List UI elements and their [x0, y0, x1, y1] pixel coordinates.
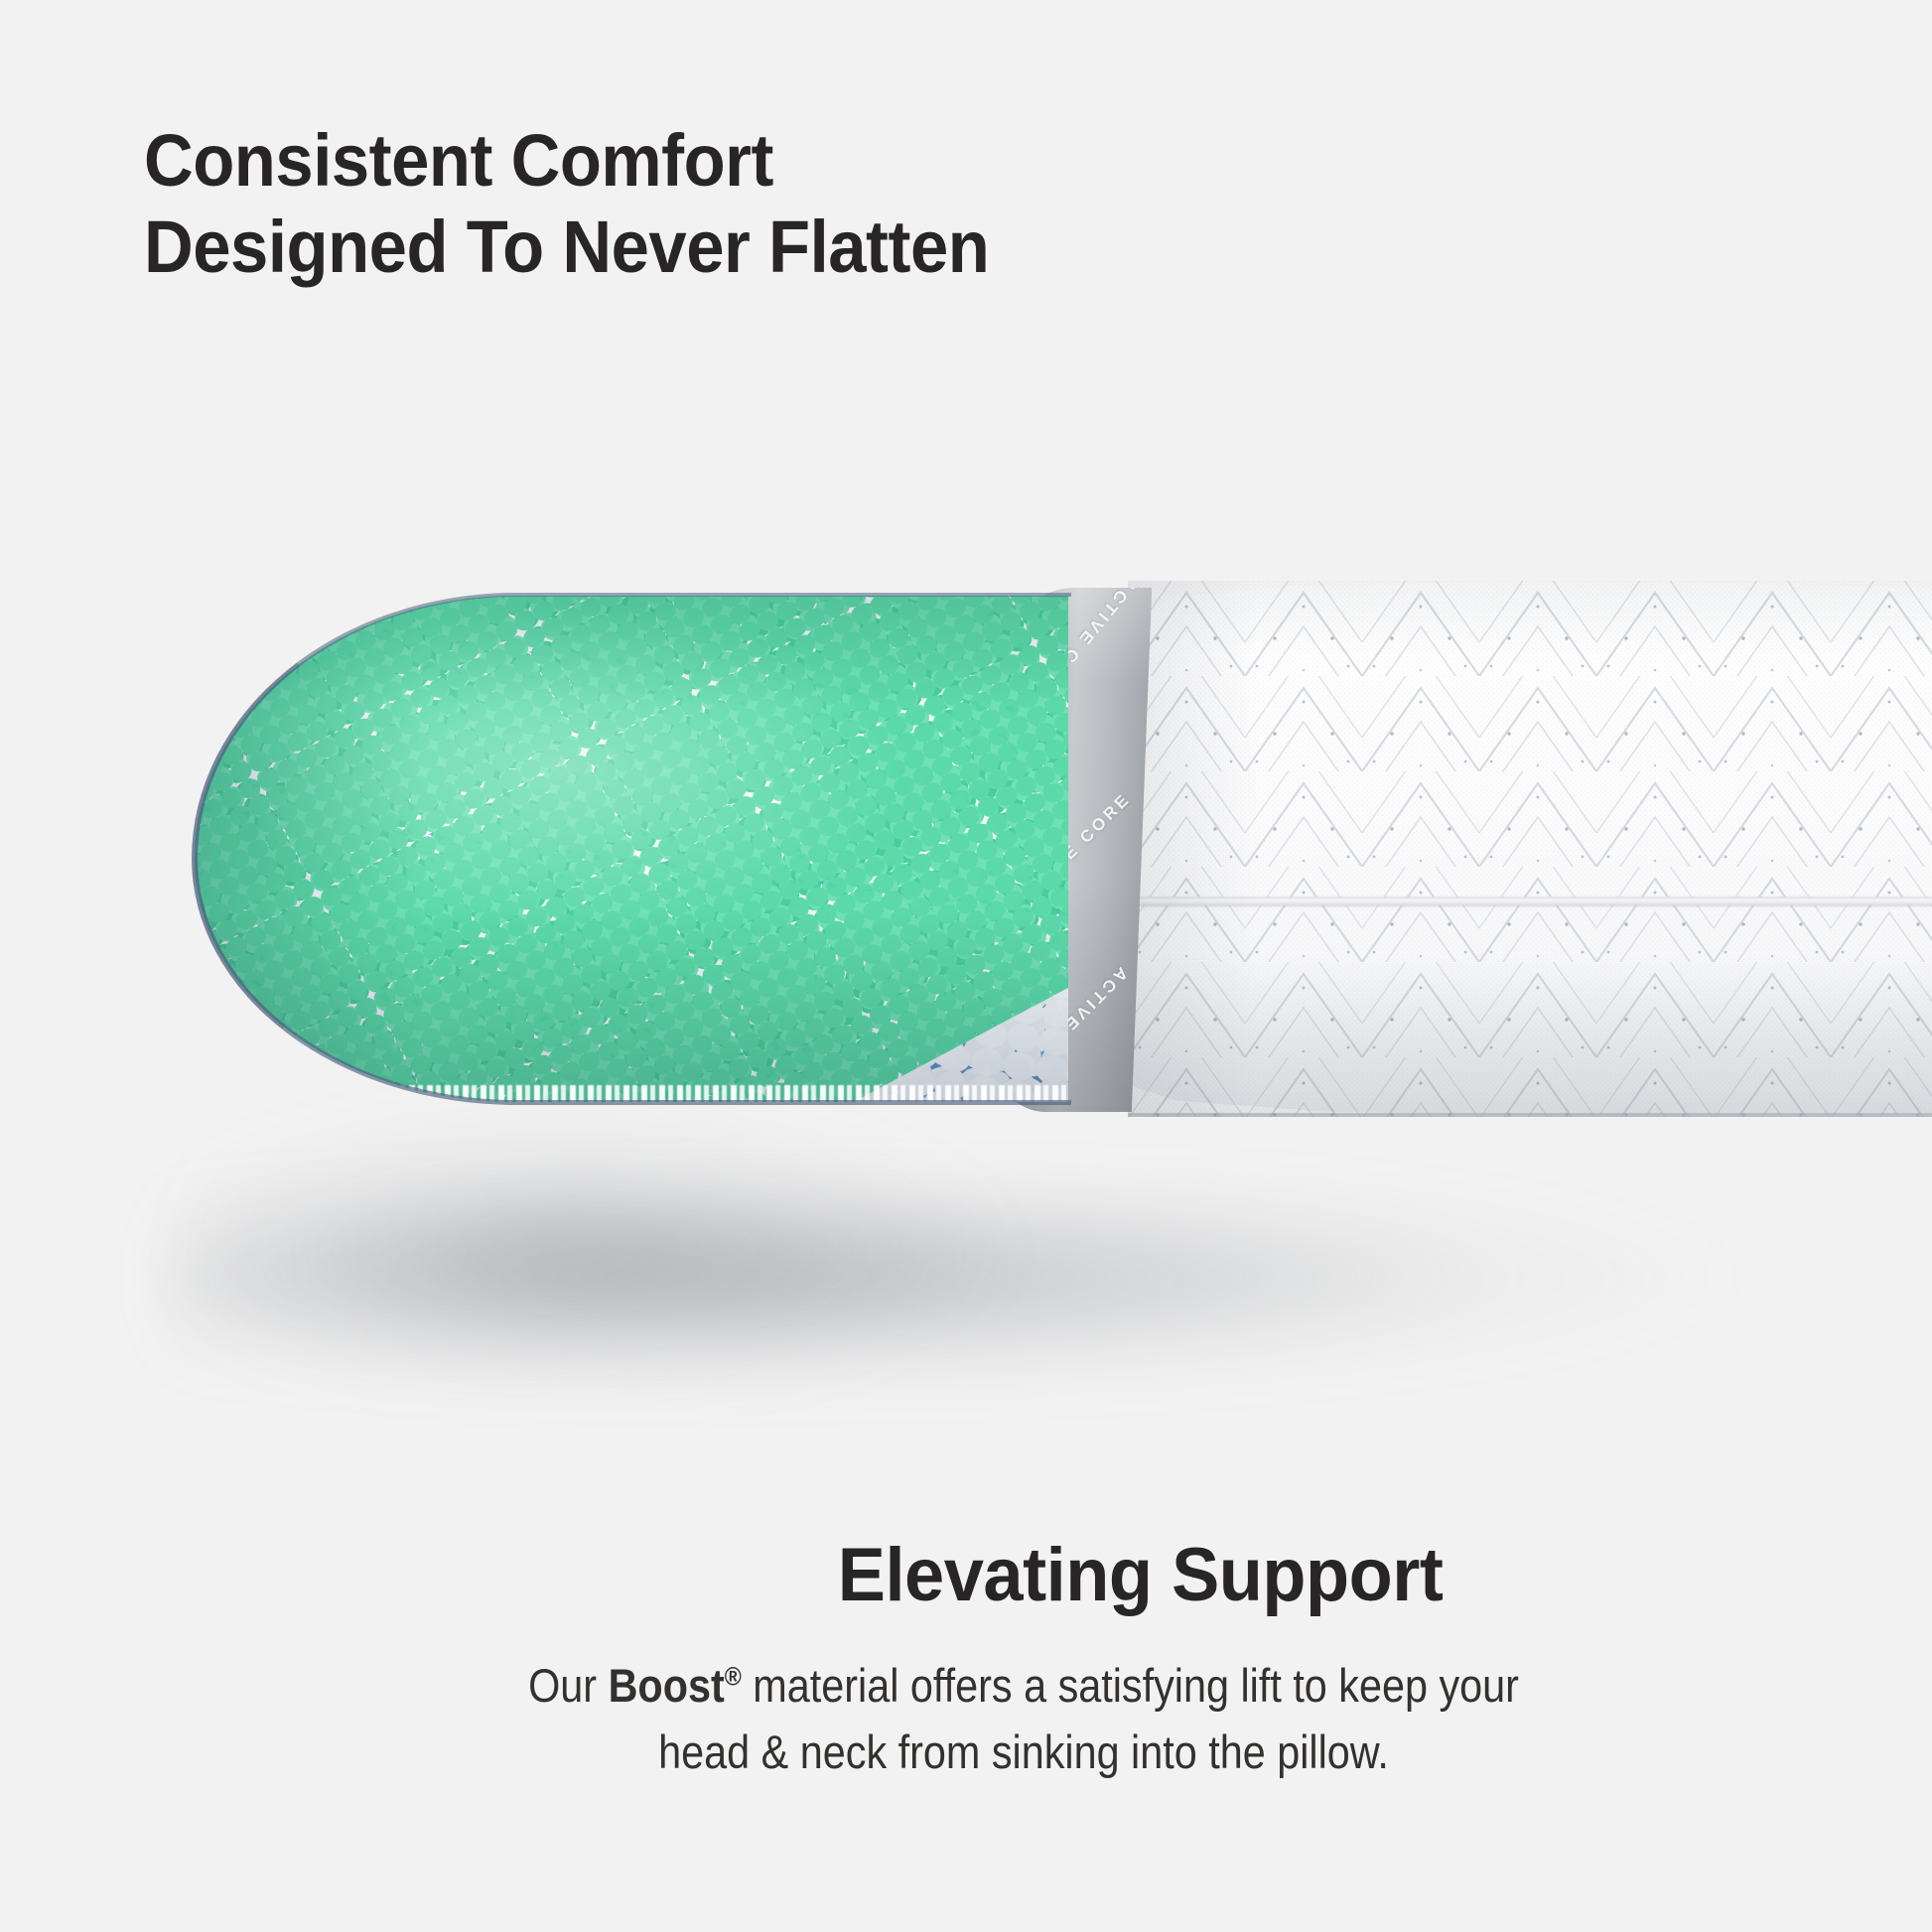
page-title: Consistent Comfort Designed To Never Fla…: [144, 117, 1160, 291]
description-line-1: Our Boost® material offers a satisfying …: [528, 1653, 1519, 1720]
foam-crumb-edge: [195, 1085, 1068, 1102]
marketing-image-canvas: Consistent Comfort Designed To Never Fla…: [0, 0, 1932, 1932]
section-heading-text: Elevating Support: [838, 1534, 1444, 1617]
active-core-band: ACTIVE CORE ACTIVE CORE ACTIVE CORE: [1001, 588, 1152, 1112]
section-description: Our Boost® material offers a satisfying …: [0, 1653, 1932, 1785]
band-shading: [1001, 588, 1152, 1112]
product-shadow: [169, 1181, 1857, 1410]
foam-chunks-mint: [195, 596, 1068, 1102]
trademark-symbol: ®: [725, 1661, 742, 1691]
foam-chunks-white: [195, 596, 1068, 1102]
foam-base: [195, 596, 1068, 1102]
section-heading: Elevating Support: [0, 1534, 1932, 1617]
fabric-shading: [1128, 581, 1932, 1117]
fabric-bottom-edge: [1128, 1113, 1932, 1117]
product-shadow-near: [208, 1112, 1102, 1390]
fabric-quilt-pattern-icon: [1128, 581, 1932, 1117]
description-line-2: head & neck from sinking into the pillow…: [528, 1720, 1519, 1786]
headline-line-1: Consistent Comfort: [144, 117, 1160, 204]
fabric-seam: [1128, 897, 1932, 905]
brand-name: Boost: [609, 1659, 725, 1712]
foam-chunks-blue-a: [195, 596, 1068, 1102]
foam-chunks-blue-b: [195, 596, 1068, 1102]
foam-core-rim: [192, 593, 1071, 1105]
pillow-foam-core: [195, 596, 1068, 1102]
active-core-label-bottom: ACTIVE CORE: [1008, 963, 1132, 1086]
pillow-fabric-cover: [1128, 581, 1932, 1117]
fabric-surface: [1128, 581, 1932, 1117]
description-prefix: Our: [528, 1659, 608, 1712]
description-suffix: material offers a satisfying lift to kee…: [742, 1659, 1519, 1712]
active-core-label-top: ACTIVE CORE: [1028, 588, 1141, 706]
foam-highlight: [195, 596, 1068, 1102]
active-core-label-middle: ACTIVE CORE: [1011, 789, 1135, 912]
headline-line-2: Designed To Never Flatten: [144, 204, 1160, 290]
foam-shading: [195, 596, 1068, 1102]
